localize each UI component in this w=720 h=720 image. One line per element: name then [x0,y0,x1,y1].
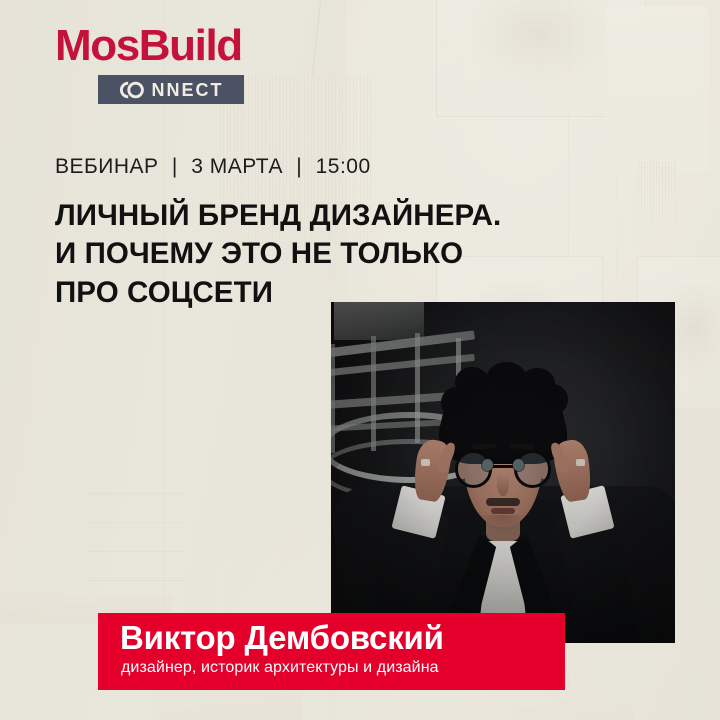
connect-infinity-icon [119,81,150,99]
headline-line-2: И ПОЧЕМУ ЭТО НЕ ТОЛЬКО [55,235,585,273]
glasses-bridge [492,465,513,468]
event-meta-line: ВЕБИНАР | 3 МАРТА | 15:00 [55,155,371,179]
mosbuild-logo: MosBuild NNECT [55,24,255,104]
logo-wordmark: MosBuild [55,24,255,68]
logo-connect-badge: NNECT [98,75,244,104]
meta-separator: | [289,155,309,179]
event-time: 15:00 [316,155,371,178]
moustache [486,498,520,506]
hair-tuft [537,384,568,415]
speaker-role: дизайнер, историк архитектуры и дизайна [121,659,439,677]
speaker-name-banner: Виктор Дембовский дизайнер, историк архи… [98,613,565,690]
logo-connect-label: NNECT [152,81,224,99]
ring-left [421,459,430,467]
promo-poster: MosBuild NNECT ВЕБИНАР | 3 МАРТА | 15:00… [0,0,720,720]
headline-line-1: ЛИЧНЫЙ БРЕНД ДИЗАЙНЕРА. [55,197,585,235]
hair-tuft [441,387,472,418]
event-type-label: ВЕБИНАР [55,155,159,178]
chin-shadow [479,515,527,532]
ring-right [576,459,585,467]
speaker-name: Виктор Дембовский [120,620,444,657]
speaker-portrait-photo [331,302,675,643]
event-headline: ЛИЧНЫЙ БРЕНД ДИЗАЙНЕРА. И ПОЧЕМУ ЭТО НЕ … [55,197,585,312]
meta-separator: | [165,155,185,179]
portrait-subject [331,302,675,643]
eye-left [482,459,493,471]
logo-connect-lockup: NNECT [119,81,224,99]
mouth [491,508,515,513]
event-date: 3 МАРТА [191,155,283,178]
